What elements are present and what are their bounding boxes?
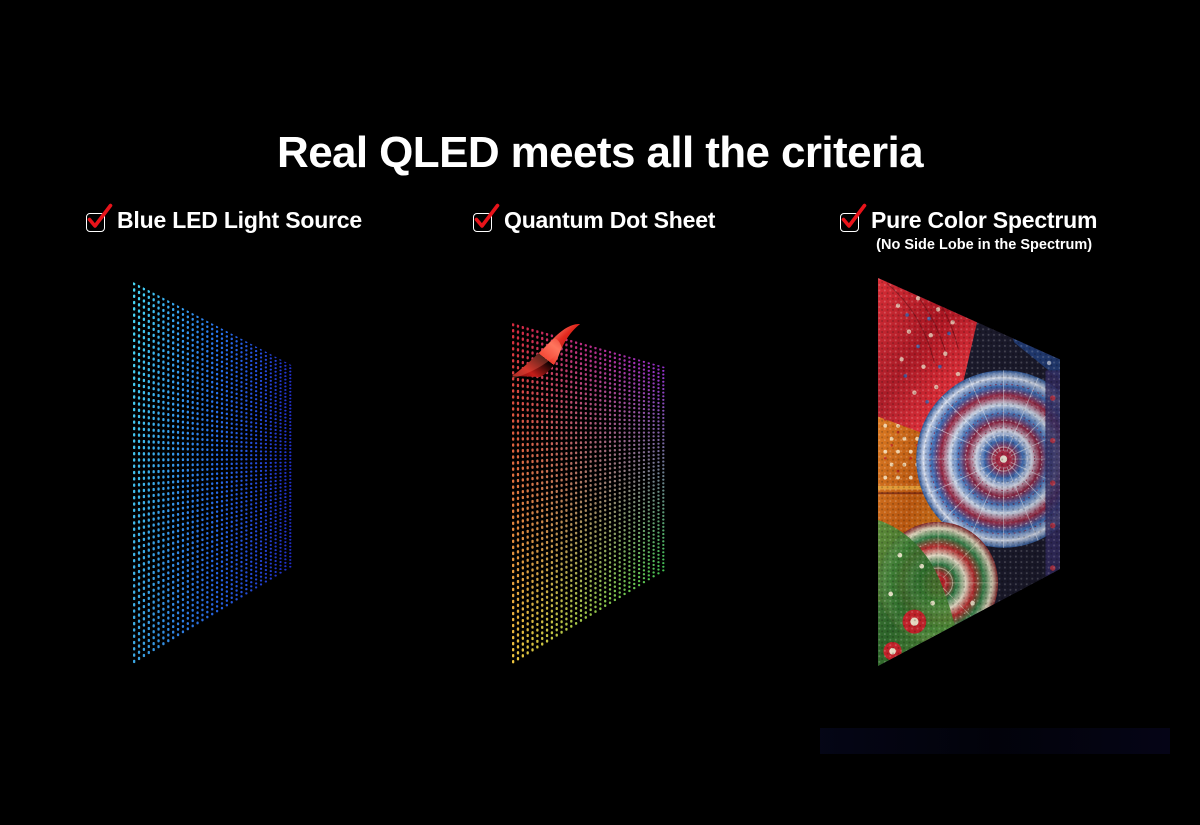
checkmark-icon (472, 204, 502, 234)
criterion-label: Blue LED Light Source (117, 208, 362, 234)
criterion-label: Quantum Dot Sheet (504, 208, 715, 234)
criterion-label: Pure Color Spectrum (871, 208, 1097, 234)
criterion-blue-led-light-source: Blue LED Light Source (86, 208, 362, 234)
checkbox-blue-led-light-source[interactable] (86, 211, 108, 233)
checkbox-pure-color-spectrum[interactable] (840, 211, 862, 233)
blue-led-panel (133, 282, 294, 666)
picture-quality-panel (878, 278, 1060, 666)
page-title: Real QLED meets all the criteria (0, 128, 1200, 178)
checkmark-icon (839, 204, 869, 234)
criterion-pure-color-spectrum: Pure Color Spectrum (No Side Lobe in the… (840, 208, 1097, 254)
quantum-dot-panel (512, 323, 667, 666)
background-artifact-band (820, 728, 1170, 754)
peeling-sheet-corner-icon (510, 322, 596, 386)
checkmark-icon (85, 204, 115, 234)
checkbox-quantum-dot-sheet[interactable] (473, 211, 495, 233)
led-dot-matrix (133, 282, 294, 666)
criterion-sublabel: (No Side Lobe in the Spectrum) (876, 237, 1092, 254)
slide-canvas: Real QLED meets all the criteria Blue LE… (0, 0, 1200, 800)
criterion-quantum-dot-sheet: Quantum Dot Sheet (473, 208, 715, 234)
panel-sheen (878, 278, 1060, 666)
